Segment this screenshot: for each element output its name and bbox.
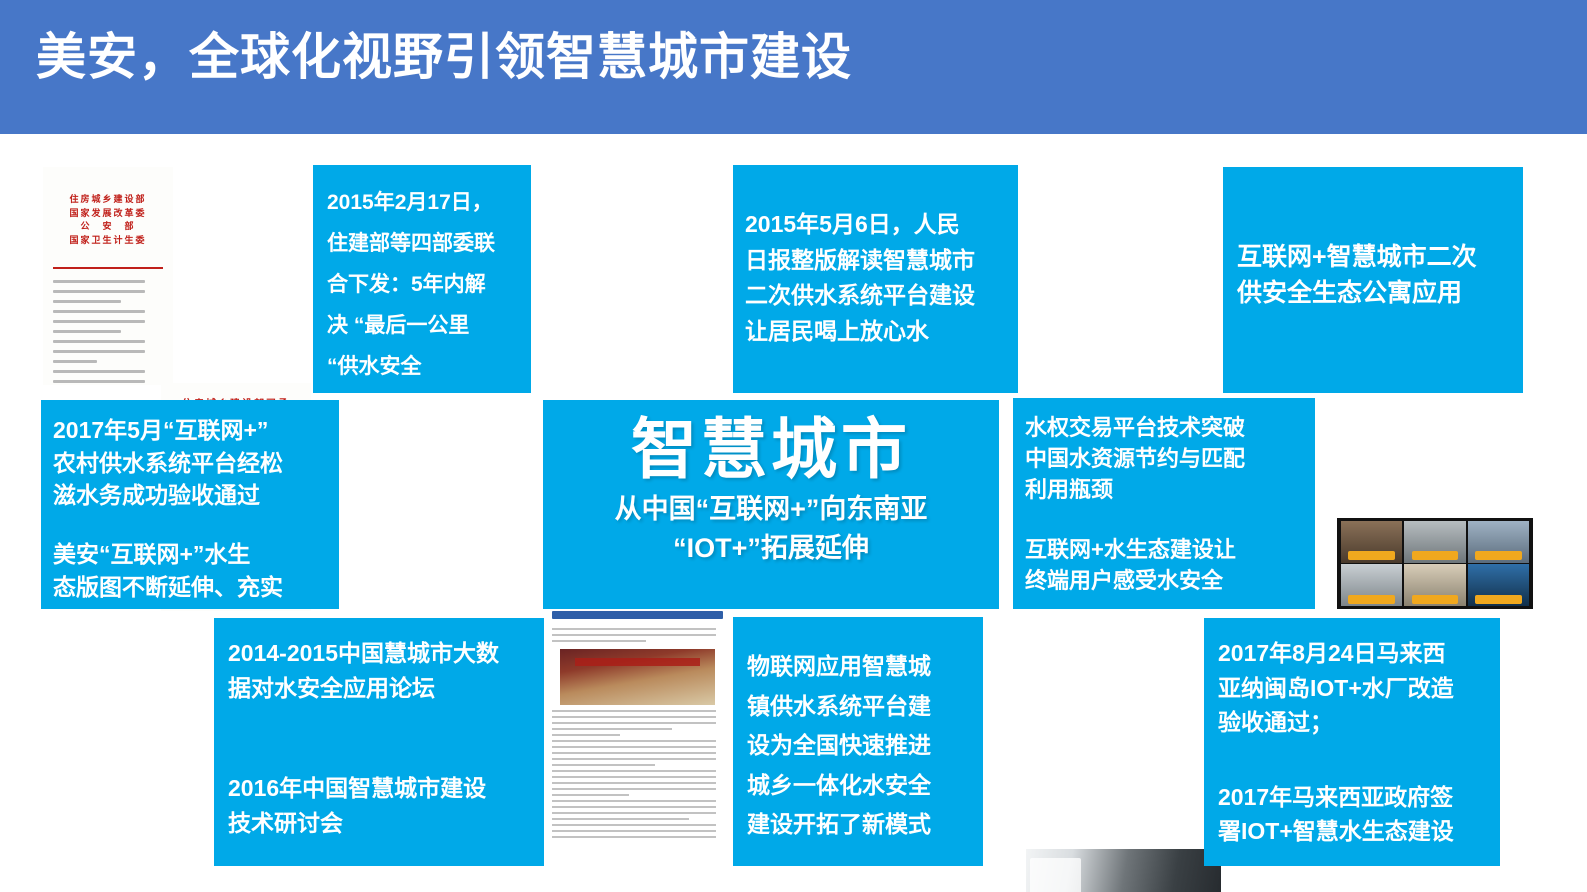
forum-b-line-1: 2016年中国智慧城市建设 (228, 771, 530, 806)
policy-line-2: 住建部等四部委联 (327, 224, 517, 265)
policy-line-1: 2015年2月17日， (327, 183, 517, 224)
newspaper-photo (560, 649, 715, 706)
forum-a-line-2: 据对水安全应用论坛 (228, 671, 530, 706)
iot-line-1: 物联网应用智慧城 (747, 647, 969, 687)
gov-doc-1-heading: 住房城乡建设部国家发展改革委公 安 部国家卫生计生委 (53, 193, 162, 247)
waterrights-spacer (1025, 506, 1303, 534)
rural-b-line-2: 态版图不断延伸、充实 (53, 571, 327, 604)
malaysia-b-line-2: 署IOT+智慧水生态建设 (1218, 814, 1486, 849)
rural-a-line-3: 滋水务成功验收通过 (53, 479, 327, 512)
case-thumbnails-image (1337, 518, 1533, 609)
iot-line-3: 设为全国快速推进 (747, 726, 969, 766)
malaysia-spacer (1218, 740, 1486, 780)
panel-apartment-app: 互联网+智慧城市二次 供安全生态公寓应用 (1223, 167, 1523, 393)
panel-rural-platform: 2017年5月“互联网+” 农村供水系统平台经松 滋水务成功验收通过 美安“互联… (41, 400, 339, 609)
panel-smart-city: 智慧城市 从中国“互联网+”向东南亚 “IOT+”拓展延伸 (543, 400, 999, 609)
forum-a-line-1: 2014-2015中国慧城市大数 (228, 636, 530, 671)
iot-line-4: 城乡一体化水安全 (747, 766, 969, 806)
newspaper-lead (552, 628, 722, 646)
pipe-room-image (1026, 849, 1221, 892)
newspaper-image (545, 604, 730, 840)
waterrights-a-line-2: 中国水资源节约与匹配 (1025, 443, 1303, 474)
panel-iot-platform: 物联网应用智慧城 镇供水系统平台建 设为全国快速推进 城乡一体化水安全 建设开拓… (733, 617, 983, 866)
smart-city-title: 智慧城市 (543, 412, 999, 488)
panel-peoples-daily: 2015年5月6日，人民 日报整版解读智慧城市 二次供水系统平台建设 让居民喝上… (733, 165, 1018, 393)
waterrights-a-line-1: 水权交易平台技术突破 (1025, 412, 1303, 443)
smart-city-sub-1: 从中国“互联网+”向东南亚 (543, 490, 999, 529)
iot-line-2: 镇供水系统平台建 (747, 687, 969, 727)
panel-forum: 2014-2015中国慧城市大数 据对水安全应用论坛 2016年中国智慧城市建设… (214, 618, 544, 866)
slide-header: 美安，全球化视野引领智慧城市建设 (0, 0, 1587, 134)
policy-line-5: “供水安全 (327, 347, 517, 388)
malaysia-a-line-1: 2017年8月24日马来西 (1218, 636, 1486, 671)
malaysia-a-line-3: 验收通过； (1218, 705, 1486, 740)
newspaper-body (552, 710, 722, 840)
forum-b-line-2: 技术研讨会 (228, 806, 530, 841)
forum-spacer (228, 705, 530, 771)
smart-city-sub-2: “IOT+”拓展延伸 (543, 529, 999, 568)
panel-policy-notice: 2015年2月17日， 住建部等四部委联 合下发：5年内解 决 “最后一公里 “… (313, 165, 531, 393)
apartment-line-1: 互联网+智慧城市二次 (1237, 239, 1509, 275)
malaysia-a-line-2: 亚纳闽岛IOT+水厂改造 (1218, 671, 1486, 706)
daily-line-2: 日报整版解读智慧城市 (745, 243, 1006, 279)
rural-a-line-1: 2017年5月“互联网+” (53, 414, 327, 447)
page-title: 美安，全球化视野引领智慧城市建设 (36, 26, 852, 89)
gov-document-1-image: 住房城乡建设部国家发展改革委公 安 部国家卫生计生委 (43, 167, 173, 385)
waterrights-b-line-2: 终端用户感受水安全 (1025, 565, 1303, 596)
daily-line-4: 让居民喝上放心水 (745, 314, 1006, 350)
waterrights-a-line-3: 利用瓶颈 (1025, 474, 1303, 505)
doc-divider (53, 267, 162, 269)
daily-line-3: 二次供水系统平台建设 (745, 278, 1006, 314)
daily-line-1: 2015年5月6日，人民 (745, 207, 1006, 243)
panel-malaysia: 2017年8月24日马来西 亚纳闽岛IOT+水厂改造 验收通过； 2017年马来… (1204, 618, 1500, 866)
policy-line-4: 决 “最后一公里 (327, 306, 517, 347)
waterrights-b-line-1: 互联网+水生态建设让 (1025, 534, 1303, 565)
rural-a-line-2: 农村供水系统平台经松 (53, 447, 327, 480)
doc-body-lines (53, 280, 162, 385)
malaysia-b-line-1: 2017年马来西亚政府签 (1218, 780, 1486, 815)
apartment-line-2: 供安全生态公寓应用 (1237, 275, 1509, 311)
policy-line-3: 合下发：5年内解 (327, 265, 517, 306)
newspaper-masthead (552, 611, 722, 619)
iot-line-5: 建设开拓了新模式 (747, 805, 969, 845)
panel-water-rights: 水权交易平台技术突破 中国水资源节约与匹配 利用瓶颈 互联网+水生态建设让 终端… (1013, 398, 1315, 609)
rural-spacer (53, 512, 327, 538)
rural-b-line-1: 美安“互联网+”水生 (53, 538, 327, 571)
slide-root: 美安，全球化视野引领智慧城市建设 住房城乡建设部国家发展改革委公 安 部国家卫生… (0, 0, 1587, 892)
